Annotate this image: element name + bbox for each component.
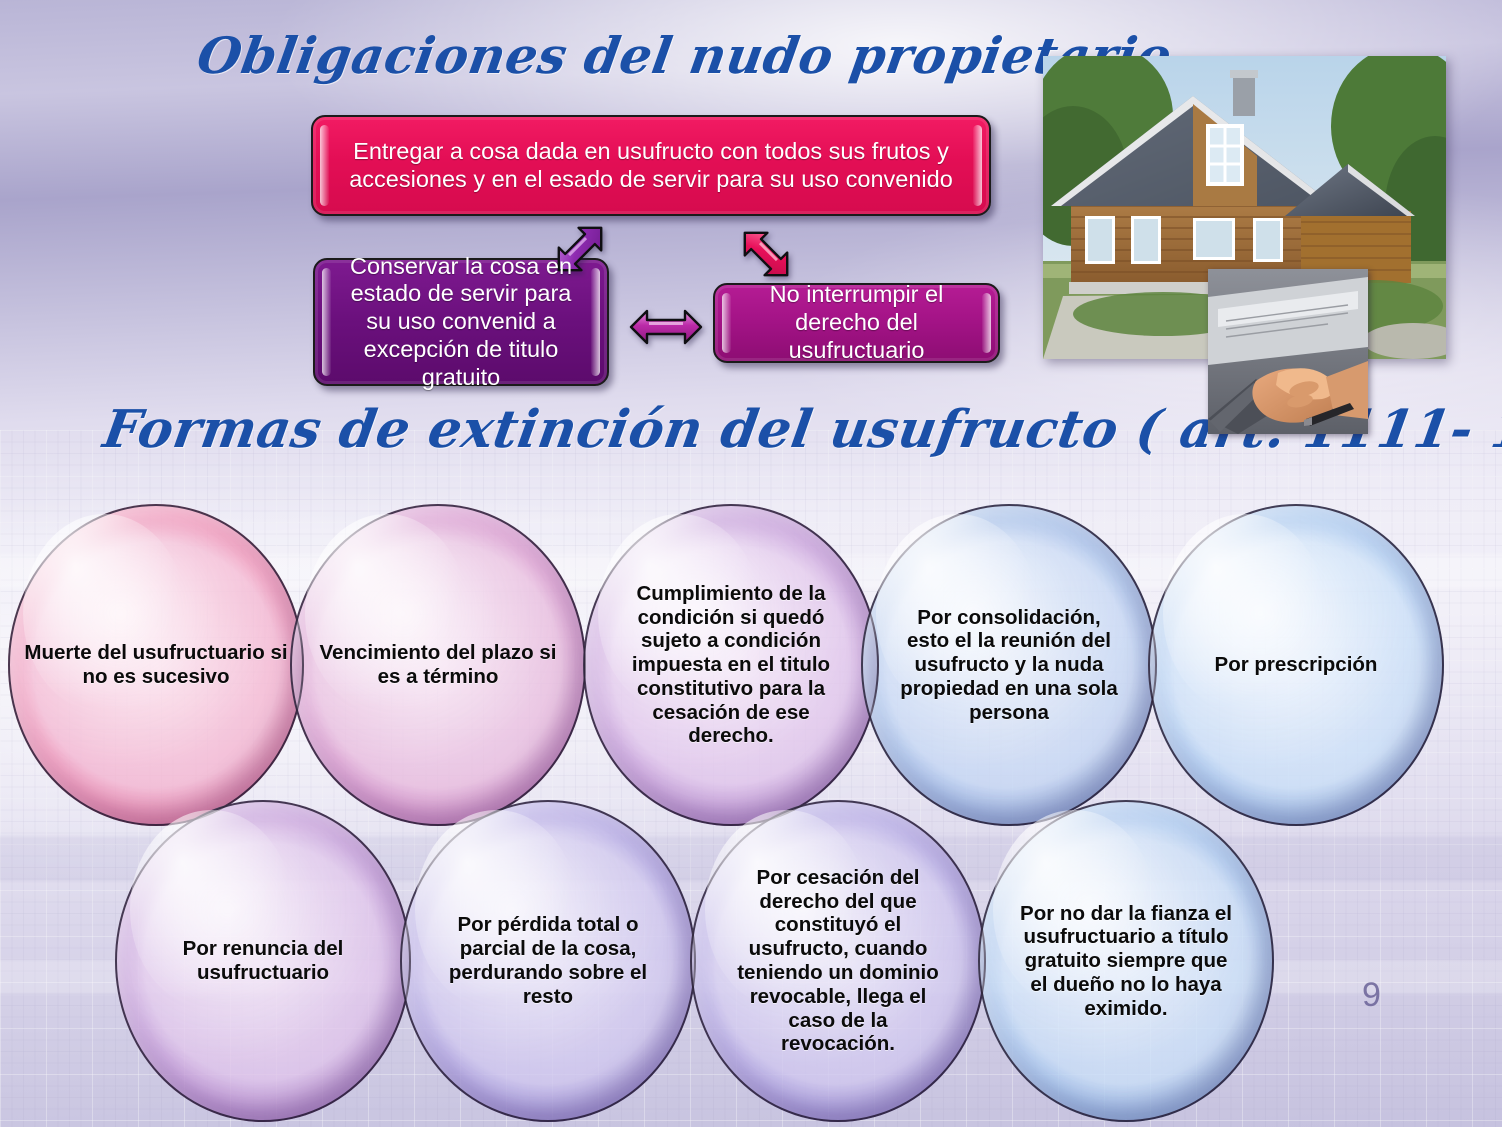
obligation-box-no-interrumpir[interactable]: No interrumpir el derecho del usufructua… bbox=[713, 283, 1000, 363]
bubble-muerte-usufructuario[interactable]: Muerte del usufructuario si no es sucesi… bbox=[8, 504, 304, 826]
arrow-magenta-horizontal-icon bbox=[627, 305, 705, 349]
bubble-label: Cumplimiento de la condición si quedó su… bbox=[583, 582, 879, 748]
obligation-box-conservar-label: Conservar la cosa en estado de servir pa… bbox=[341, 253, 581, 392]
bubble-prescripcion[interactable]: Por prescripción bbox=[1148, 504, 1444, 826]
bubble-label: Por prescripción bbox=[1199, 653, 1394, 677]
page-number: 9 bbox=[1362, 976, 1381, 1015]
bubble-consolidacion[interactable]: Por consolidación, esto el la reunión de… bbox=[861, 504, 1157, 826]
bubble-perdida-cosa[interactable]: Por pérdida total o parcial de la cosa, … bbox=[400, 800, 696, 1122]
obligation-box-no-interrumpir-label: No interrumpir el derecho del usufructua… bbox=[741, 281, 972, 364]
slide-canvas: Obligaciones del nudo propietario Formas… bbox=[0, 0, 1502, 1127]
bubble-cumplimiento-condicion[interactable]: Cumplimiento de la condición si quedó su… bbox=[583, 504, 879, 826]
obligation-box-entregar-label: Entregar a cosa dada en usufructo con to… bbox=[339, 138, 963, 193]
bubble-renuncia-usufructuario[interactable]: Por renuncia del usufructuario bbox=[115, 800, 411, 1122]
bubble-gloss bbox=[1163, 514, 1326, 714]
bubble-label: Por cesación del derecho del que constit… bbox=[690, 866, 986, 1056]
page-title-obligaciones: Obligaciones del nudo propietario bbox=[193, 26, 1175, 85]
photo-collage bbox=[1043, 56, 1446, 359]
obligation-box-entregar[interactable]: Entregar a cosa dada en usufructo con to… bbox=[311, 115, 991, 216]
arrow-pink-diagonal-icon bbox=[730, 218, 802, 290]
bubble-label: Vencimiento del plazo si es a término bbox=[290, 641, 586, 689]
obligation-box-conservar[interactable]: Conservar la cosa en estado de servir pa… bbox=[313, 258, 609, 386]
bubble-label: Por no dar la fianza el usufructuario a … bbox=[978, 902, 1274, 1021]
bubble-vencimiento-plazo[interactable]: Vencimiento del plazo si es a término bbox=[290, 504, 586, 826]
handshake-photo bbox=[1208, 269, 1368, 434]
bubble-no-dar-fianza[interactable]: Por no dar la fianza el usufructuario a … bbox=[978, 800, 1274, 1122]
bubble-label: Por consolidación, esto el la reunión de… bbox=[861, 606, 1157, 725]
bubble-label: Muerte del usufructuario si no es sucesi… bbox=[8, 641, 304, 689]
bubble-cesacion-derecho[interactable]: Por cesación del derecho del que constit… bbox=[690, 800, 986, 1122]
bubble-label: Por renuncia del usufructuario bbox=[115, 937, 411, 985]
bubble-label: Por pérdida total o parcial de la cosa, … bbox=[400, 913, 696, 1008]
